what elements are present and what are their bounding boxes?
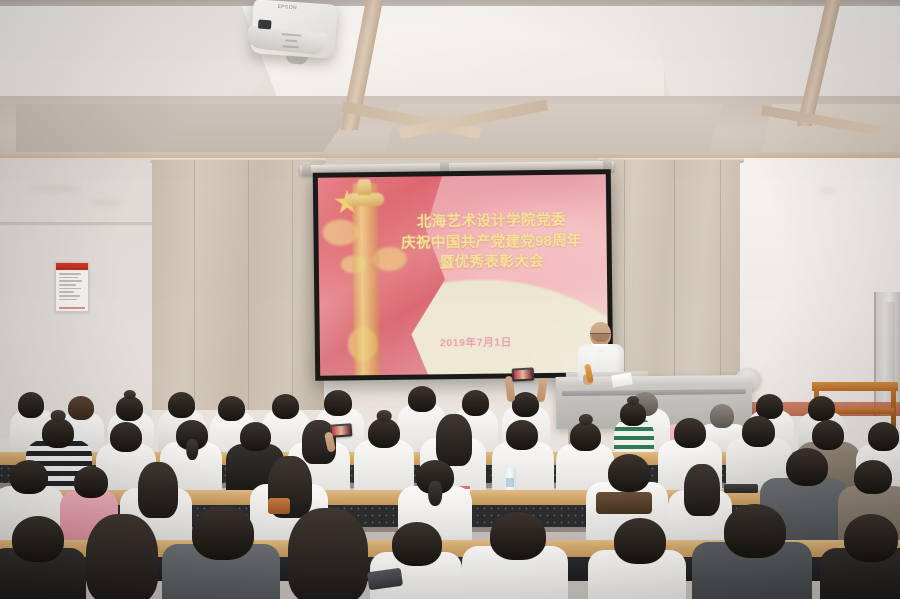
projector-brand-label: EPSON [277,4,297,11]
person-head [786,448,828,486]
notice-board-text [56,270,88,300]
person-head [620,402,646,426]
person-head [724,504,786,558]
person-head [324,390,352,416]
person-head [742,416,775,447]
person-head [42,418,74,448]
person-head [512,392,539,417]
person-hair [684,464,720,516]
slide-huabiao-pillar-graphic [352,183,380,376]
person-head [18,392,44,418]
slide-title-line-1: 北海艺术设计学院党委 [372,210,608,233]
person-head [192,506,254,560]
person-head [490,512,546,560]
person-head [462,390,489,416]
person-head [710,404,734,428]
handbag [596,492,652,514]
smartphone [512,367,535,381]
wall-notice-board [55,262,89,312]
notice-board-footer [59,307,85,309]
person-head [854,460,892,494]
person-torso [492,442,554,496]
person-head [392,522,442,566]
projector-lens-icon [258,20,272,30]
projection-screen: 北海艺术设计学院党委 庆祝中国共产党建党98周年 暨优秀表彰大会 2019年7月… [313,169,614,381]
smartphone [330,423,353,438]
glasses-icon [590,333,611,338]
ceiling [0,0,900,162]
person-head [614,518,666,564]
wall-mark [820,188,836,193]
person-head [10,460,48,494]
person-hair [86,514,158,599]
person-head [570,422,601,451]
person-head [240,422,271,451]
person-head [368,418,400,448]
slide-date: 2019年7月1日 [386,334,566,351]
person-head [68,396,94,420]
projection-screen-surface: 北海艺术设计学院党委 庆祝中国共产党建党98周年 暨优秀表彰大会 2019年7月… [318,174,608,376]
desk-item-case [724,484,758,493]
person-head [218,396,245,421]
person-head [812,420,844,450]
person-head [506,420,538,450]
person-head [74,466,108,498]
wall-mark [28,186,82,192]
wall-curtain [152,160,324,410]
person-head [408,386,436,412]
person-hair [138,462,178,518]
lecture-hall-photograph: EPSON [0,0,900,599]
person-head [868,422,899,451]
person-head [416,460,454,494]
person-head [12,516,64,562]
person-head [674,418,706,448]
wall-mark [92,200,122,205]
person-head [808,396,835,421]
slide-title-line-2: 庆祝中国共产党建党98周年 [372,231,608,254]
person-head [110,422,142,452]
person-head [608,454,650,492]
person-head [116,396,143,421]
desk-item-bag [268,498,290,514]
slide-title-line-3: 暨优秀表彰大会 [373,251,608,274]
slide-huabiao-top [358,179,371,195]
person-head [168,392,195,418]
person-hair [436,414,472,466]
slide-title: 北海艺术设计学院党委 庆祝中国共产党建党98周年 暨优秀表彰大会 [372,210,608,275]
notice-board-header [56,263,88,270]
projector: EPSON [250,0,338,59]
person-head [176,420,208,450]
person-hair [288,508,368,599]
person-head [844,514,898,562]
person-head [272,394,299,419]
